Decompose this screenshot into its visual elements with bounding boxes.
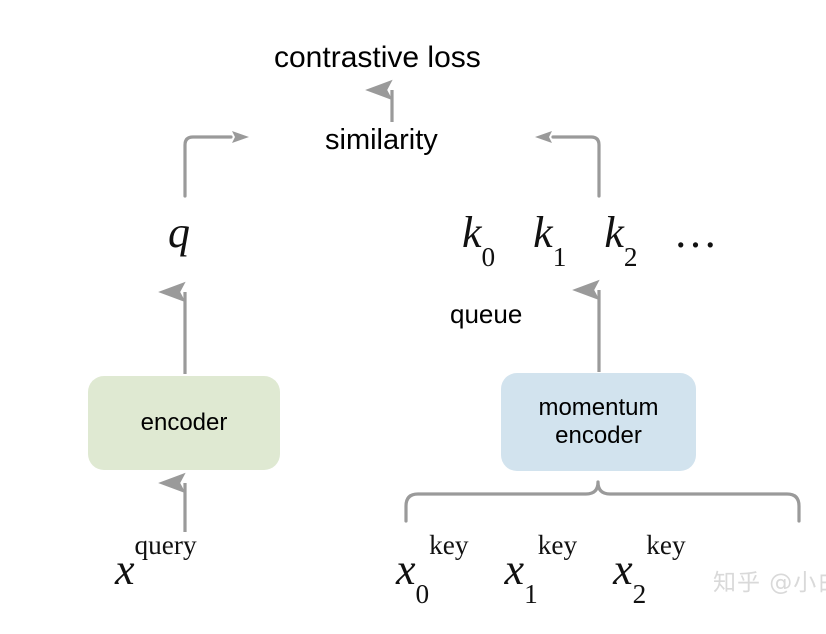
k1-glyph: k (533, 208, 553, 257)
x-key-1: x1key (505, 545, 578, 594)
k0-symbol: k0 (462, 208, 495, 257)
x-glyph-key1: x (505, 545, 525, 594)
q-glyph: q (168, 208, 190, 257)
k0-glyph: k (462, 208, 482, 257)
x-key0-subscript: 0 (416, 579, 430, 609)
k2-symbol: k2 (604, 208, 637, 257)
similarity-label: similarity (325, 124, 438, 157)
x-glyph-query: x (115, 545, 135, 594)
x-key-symbols: x0key x1key x2key (396, 544, 686, 595)
diagram-canvas: contrastive loss similarity queue q k0 k… (0, 0, 826, 634)
brace-key-inputs (406, 482, 799, 521)
x-query-superscript: query (135, 530, 197, 560)
x-glyph-key2: x (613, 545, 633, 594)
x-key1-subscript: 1 (524, 579, 538, 609)
query-feature-symbol: q (168, 207, 190, 258)
encoder-box[interactable]: encoder (88, 376, 280, 470)
momentum-encoder-line2: encoder (555, 422, 642, 449)
x-key2-superscript: key (646, 530, 685, 560)
k2-subscript: 2 (624, 242, 638, 272)
key-features-symbols: k0 k1 k2 … (462, 207, 718, 258)
watermark: 知乎 @小白 (713, 563, 826, 597)
x-key0-superscript: key (429, 530, 468, 560)
arrow-q-to-similarity (185, 131, 249, 196)
contrastive-loss-label: contrastive loss (274, 41, 481, 75)
k0-subscript: 0 (482, 242, 496, 272)
x-key-2: x2key (613, 545, 686, 594)
connectors-layer (0, 0, 826, 634)
x-glyph-key0: x (396, 545, 416, 594)
x-query-symbol: xquery (115, 544, 197, 595)
k2-glyph: k (604, 208, 624, 257)
momentum-encoder-line1: momentum (538, 394, 658, 421)
key-features-ellipsis: … (674, 208, 718, 257)
encoder-box-label: encoder (141, 409, 228, 437)
arrow-k-to-similarity (535, 131, 599, 196)
x-key1-superscript: key (538, 530, 577, 560)
k1-subscript: 1 (553, 242, 567, 272)
momentum-encoder-box-label: momentum encoder (538, 394, 658, 451)
x-key2-subscript: 2 (633, 579, 647, 609)
x-key-0: x0key (396, 545, 469, 594)
k1-symbol: k1 (533, 208, 566, 257)
momentum-encoder-box[interactable]: momentum encoder (501, 373, 696, 471)
queue-label: queue (450, 299, 522, 330)
